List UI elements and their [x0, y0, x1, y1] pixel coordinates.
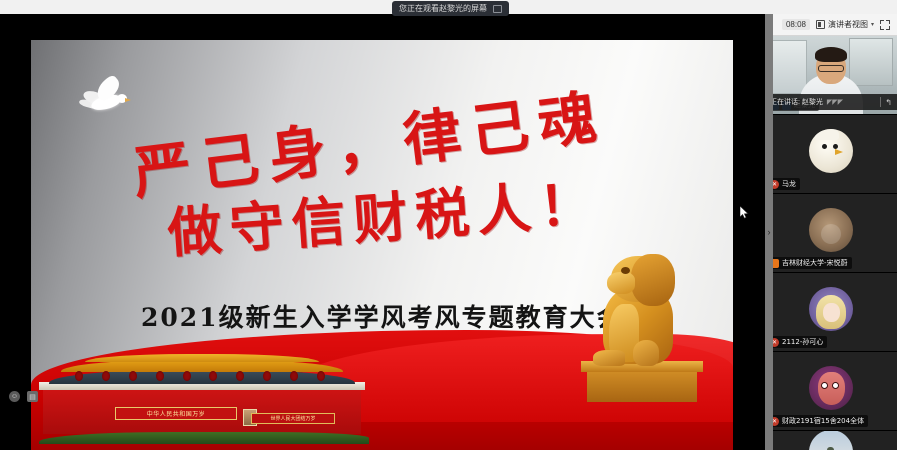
participant-name: 马龙 — [782, 179, 796, 189]
participant-name: 吉林财经大学-宋悦蔚 — [782, 258, 848, 268]
annotate-panel-icon[interactable]: ▤ — [27, 391, 38, 402]
chevron-down-icon[interactable]: ▾ — [871, 21, 874, 28]
view-mode-selector[interactable]: 演讲者视图 ▾ — [816, 19, 874, 30]
avatar — [809, 208, 853, 252]
layout-icon — [816, 20, 825, 29]
participant-tile[interactable]: ✕ 2112-孙可心 — [765, 273, 897, 352]
participant-name: 财政2191宿15舍204全体 — [782, 416, 864, 426]
viewing-screen-banner: 您正在观看赵黎光的屏幕 — [392, 1, 509, 16]
meeting-clock: 08:08 — [782, 19, 810, 30]
avatar — [809, 431, 853, 450]
participant-tile[interactable]: ⌄ — [765, 431, 897, 450]
glasses-icon — [818, 65, 844, 72]
fullscreen-icon[interactable] — [880, 20, 890, 30]
guardian-lion-icon — [587, 247, 697, 402]
speaking-label: 正在讲话: 赵黎光 — [770, 97, 823, 107]
audio-wave-icon: ◤◤◤ — [827, 98, 876, 106]
return-arrow-icon[interactable]: ↰ — [885, 98, 892, 107]
participant-nametag: ✕ 2112-孙可心 — [768, 336, 827, 348]
view-mode-label: 演讲者视图 — [828, 19, 868, 30]
presentation-slide: 严己身，律己魂 做守信财税人！ 2021级新生入学学风考风专题教育大会 赵黎光 … — [31, 40, 733, 450]
participant-tile[interactable]: ✕ 马龙 — [765, 115, 897, 194]
viewing-banner-label: 您正在观看赵黎光的屏幕 — [399, 3, 487, 14]
tiananmen-gate-illustration: 中华人民共和国万岁 世界人民大团结万岁 — [39, 356, 369, 444]
participant-tile[interactable]: ✕ 财政2191宿15舍204全体 — [765, 352, 897, 431]
meeting-window: i 您正在观看赵黎光的屏幕 严己身，律己魂 做守信财税人！ 2021级新生入学学… — [0, 0, 897, 450]
shared-screen-stage[interactable]: 严己身，律己魂 做守信财税人！ 2021级新生入学学风考风专题教育大会 赵黎光 … — [0, 14, 765, 450]
speaking-indicator-bar: 正在讲话: 赵黎光 ◤◤◤ ↰ — [765, 94, 897, 110]
screen-share-icon — [493, 5, 502, 13]
panel-collapse-handle[interactable]: › — [765, 14, 773, 450]
participants-panel: 08:08 演讲者视图 ▾ — [765, 14, 897, 450]
avatar — [809, 366, 853, 410]
avatar — [809, 287, 853, 331]
participant-name: 2112-孙可心 — [782, 337, 823, 347]
participant-tile[interactable]: 吉林财经大学-宋悦蔚 — [765, 194, 897, 273]
chevron-right-icon[interactable]: › — [768, 228, 771, 237]
gate-banner-right: 世界人民大团结万岁 — [251, 413, 335, 424]
participant-tiles: 赵黎光 正在讲话: 赵黎光 ◤◤◤ ↰ ✕ 马龙 — [765, 36, 897, 450]
gate-banner-left: 中华人民共和国万岁 — [115, 407, 237, 420]
stage-left-controls: ☺ ▤ — [9, 391, 38, 402]
slide-title-block: 严己身，律己魂 做守信财税人！ — [119, 88, 699, 273]
participant-nametag: 吉林财经大学-宋悦蔚 — [768, 257, 852, 269]
mouse-cursor — [740, 206, 749, 219]
participant-nametag: ✕ 财政2191宿15舍204全体 — [768, 415, 868, 427]
avatar — [809, 129, 853, 173]
slide-subtitle: 2021级新生入学学风考风专题教育大会 — [141, 298, 624, 334]
emoji-reaction-icon[interactable]: ☺ — [9, 391, 20, 402]
meeting-header-bar: 08:08 演讲者视图 ▾ — [765, 14, 897, 36]
